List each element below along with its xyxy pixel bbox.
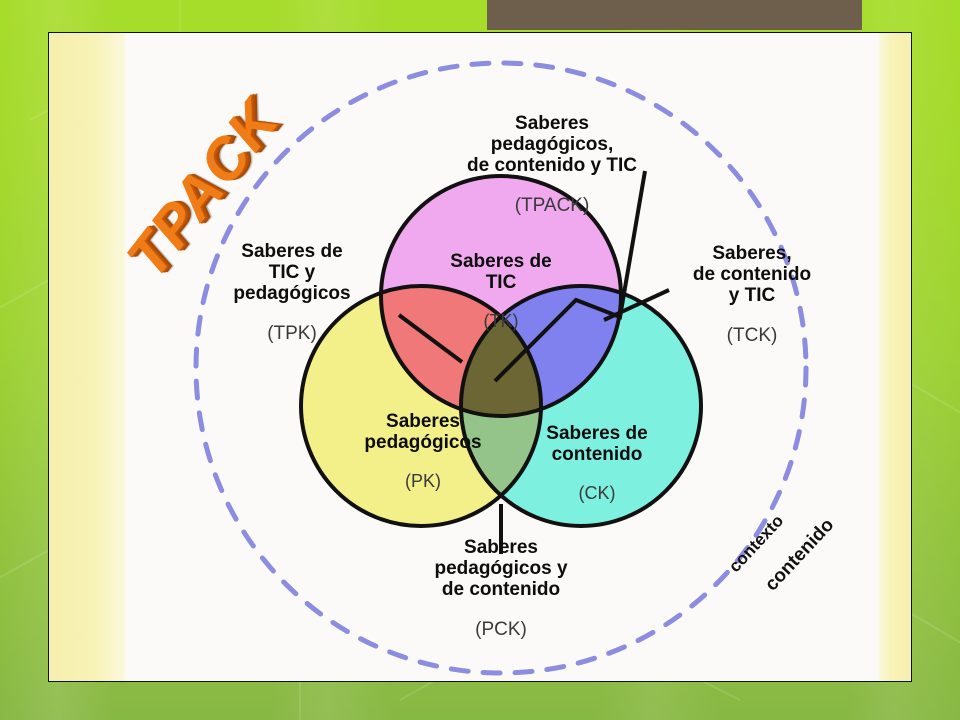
label-pk: Saberes pedagógicos (PK) — [337, 393, 509, 509]
slide-canvas: TPACK Saberes pedagógicos, de contenido … — [0, 0, 960, 720]
label-tpk-main: Saberes de TIC y pedagógicos — [197, 241, 387, 305]
label-tk-abbr: (TK) — [421, 311, 581, 331]
label-pk-abbr: (PK) — [337, 471, 509, 491]
label-tck-abbr: (TCK) — [657, 325, 847, 346]
label-ck-abbr: (CK) — [517, 483, 677, 503]
label-pck-abbr: (PCK) — [401, 619, 601, 640]
diagram-stage: TPACK Saberes pedagógicos, de contenido … — [49, 33, 912, 682]
label-tpack-abbr: (TPACK) — [437, 195, 667, 216]
label-ck-main: Saberes de contenido — [517, 423, 677, 466]
content-card: TPACK Saberes pedagógicos, de contenido … — [48, 32, 912, 682]
top-accent-bar — [487, 0, 862, 30]
label-tpk-abbr: (TPK) — [197, 323, 387, 344]
label-pck: Saberes pedagógicos y de contenido (PCK) — [401, 519, 601, 658]
label-tk: Saberes de TIC (TK) — [421, 233, 581, 349]
label-pk-main: Saberes pedagógicos — [337, 411, 509, 454]
label-tk-main: Saberes de TIC — [421, 251, 581, 294]
label-pck-main: Saberes pedagógicos y de contenido — [401, 537, 601, 601]
label-tpack-main: Saberes pedagógicos, de contenido y TIC — [437, 113, 667, 177]
label-tck: Saberes, de contenido y TIC (TCK) — [657, 225, 847, 364]
label-tpk: Saberes de TIC y pedagógicos (TPK) — [197, 223, 387, 362]
label-tpack: Saberes pedagógicos, de contenido y TIC … — [437, 95, 667, 234]
label-ck: Saberes de contenido (CK) — [517, 405, 677, 521]
label-tck-main: Saberes, de contenido y TIC — [657, 243, 847, 307]
